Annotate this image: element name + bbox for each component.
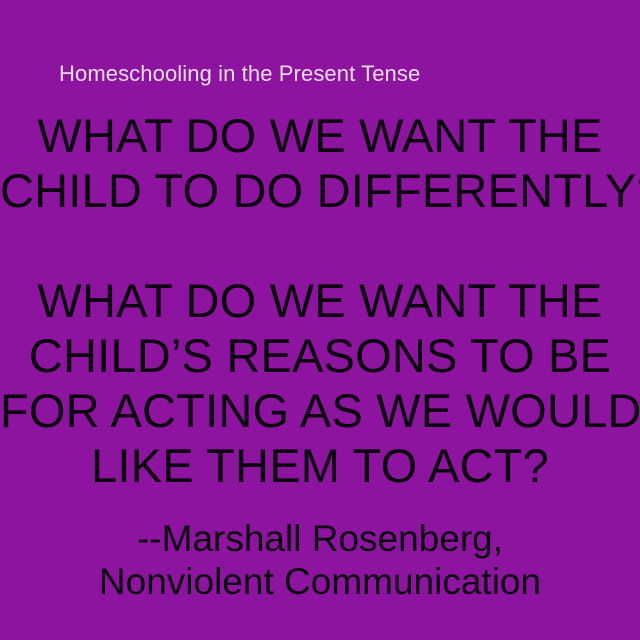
quote-line-break [0,218,640,273]
attribution-block: --Marshall Rosenberg, Nonviolent Communi… [0,517,640,603]
attribution-source: Nonviolent Communication [0,560,640,603]
quote-line-2: CHILD TO DO DIFFERENTLY? [0,163,640,218]
quote-line-7: LIKE THEM TO ACT? [0,438,640,493]
site-title: Homeschooling in the Present Tense [59,61,420,86]
quote-text-block: WHAT DO WE WANT THE CHILD TO DO DIFFEREN… [0,108,640,493]
quote-line-6: FOR ACTING AS WE WOULD [0,383,640,438]
quote-card: Homeschooling in the Present Tense WHAT … [0,0,640,640]
site-header: Homeschooling in the Present Tense [59,60,599,88]
quote-line-4: WHAT DO WE WANT THE [0,273,640,328]
attribution-author: --Marshall Rosenberg, [0,517,640,560]
quote-line-1: WHAT DO WE WANT THE [0,108,640,163]
quote-line-5: CHILD’S REASONS TO BE [0,328,640,383]
